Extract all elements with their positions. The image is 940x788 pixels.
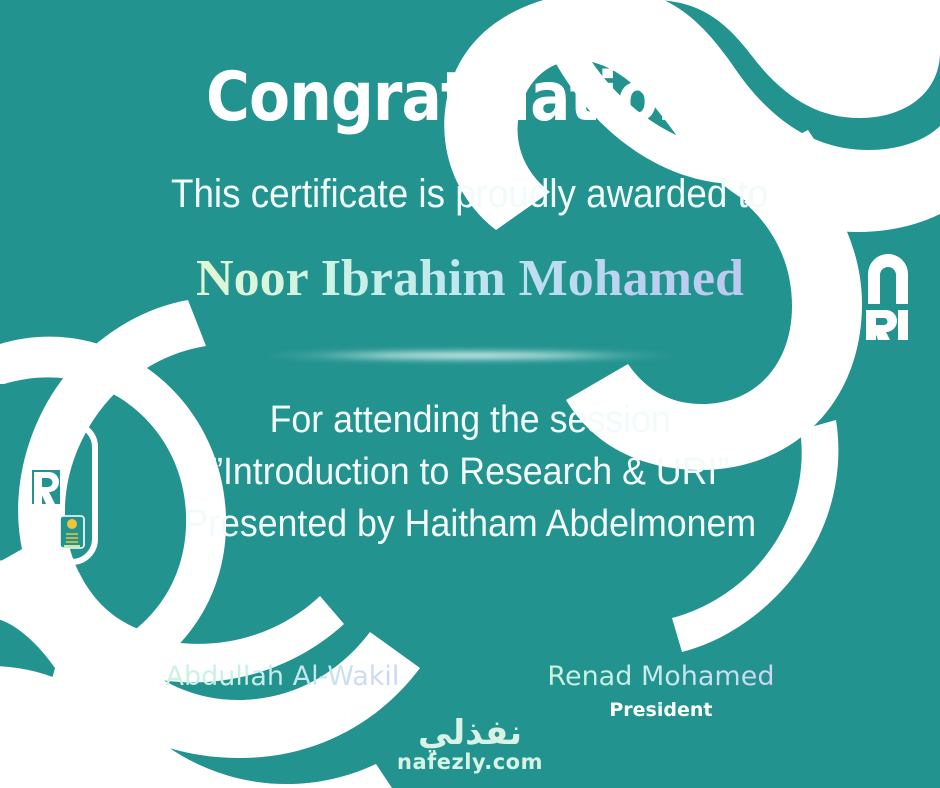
divider-line	[260, 349, 680, 362]
body-line-1: For attending the session	[184, 394, 756, 446]
signature-role: President	[547, 700, 774, 721]
signature-row: Abdullah Al-Wakil Founder Renad Mohamed …	[0, 662, 940, 721]
signature-name: Abdullah Al-Wakil	[166, 662, 400, 692]
certificate-canvas: Congratulations This certificate is prou…	[0, 0, 940, 788]
body-line-2: ”Introduction to Research & URI”	[184, 446, 756, 498]
body-line-3: Presented by Haitham Abdelmonem	[184, 498, 756, 550]
certificate-subtitle: This certificate is proudly awarded to	[171, 174, 768, 214]
signature-role: Founder	[166, 700, 400, 721]
signature-founder: Abdullah Al-Wakil Founder	[166, 662, 400, 721]
signature-name: Renad Mohamed	[547, 662, 774, 692]
certificate-title: Congratulations	[206, 64, 734, 132]
certificate-body: For attending the session ”Introduction …	[184, 394, 756, 551]
recipient-name: Noor Ibrahim Mohamed	[196, 252, 744, 307]
signature-president: Renad Mohamed President	[547, 662, 774, 721]
